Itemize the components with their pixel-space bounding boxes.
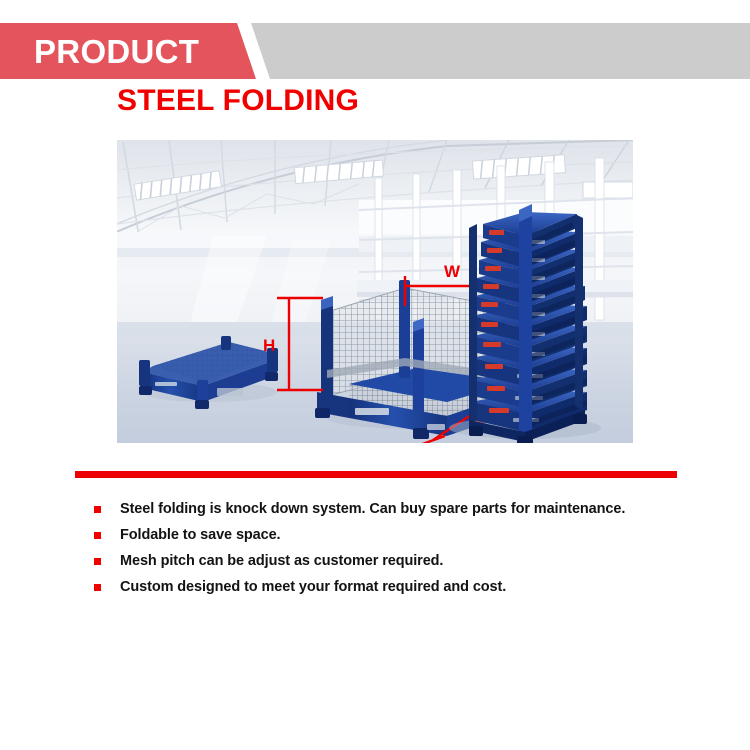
dimension-label-w: W	[444, 262, 461, 281]
section-divider	[75, 471, 677, 478]
product-page: PRODUCT STEEL FOLDING	[0, 0, 750, 750]
bullet-square-icon	[94, 532, 101, 539]
list-item: Steel folding is knock down system. Can …	[94, 496, 694, 522]
feature-list: Steel folding is knock down system. Can …	[94, 496, 694, 600]
post-left	[321, 300, 333, 402]
bullet-square-icon	[94, 558, 101, 565]
list-item: Custom designed to meet your format requ…	[94, 574, 694, 600]
dimension-label-h: H	[263, 336, 275, 355]
banner-label: PRODUCT	[34, 23, 244, 79]
feature-text: Mesh pitch can be adjust as customer req…	[120, 554, 443, 569]
list-item: Foldable to save space.	[94, 522, 694, 548]
product-image: H W L	[117, 140, 633, 443]
feature-text: Steel folding is knock down system. Can …	[120, 502, 625, 517]
bullet-square-icon	[94, 506, 101, 513]
bullet-square-icon	[94, 584, 101, 591]
stacked-cages	[449, 204, 601, 443]
feature-text: Foldable to save space.	[120, 528, 281, 543]
page-title: STEEL FOLDING	[117, 84, 359, 117]
banner-gray-shape	[251, 23, 750, 79]
list-item: Mesh pitch can be adjust as customer req…	[94, 548, 694, 574]
feature-text: Custom designed to meet your format requ…	[120, 580, 506, 595]
